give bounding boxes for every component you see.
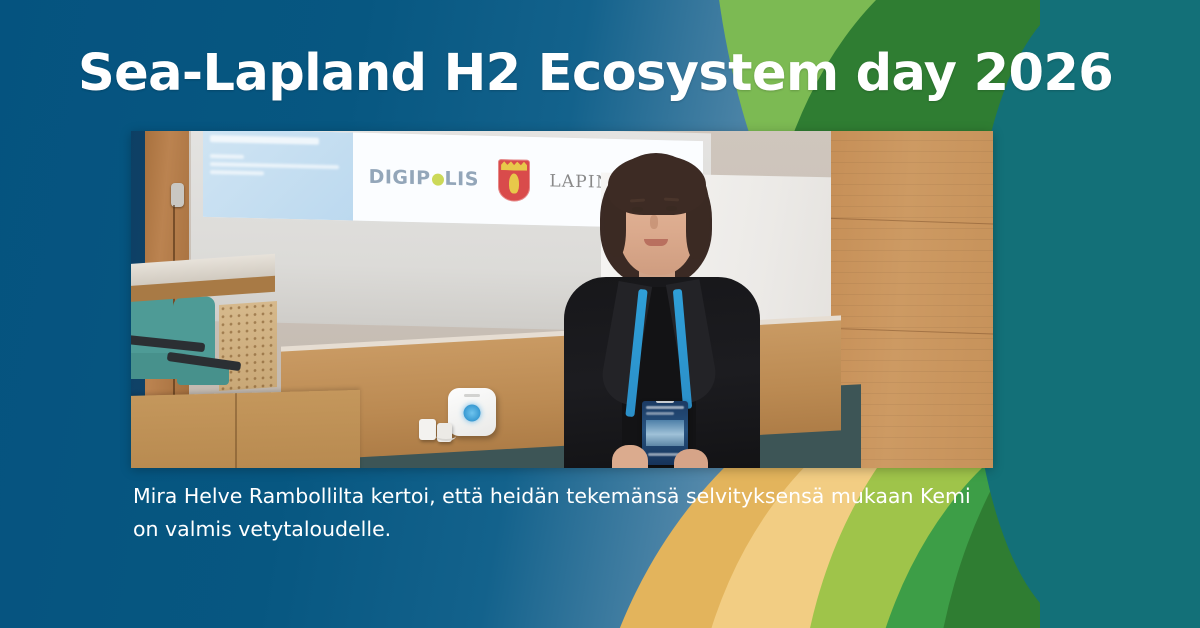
speaker-mouth — [644, 239, 668, 246]
lapland-coat-of-arms-icon — [498, 159, 530, 202]
device-cable — [436, 431, 456, 441]
photo-caption: Mira Helve Rambollilta kertoi, että heid… — [133, 480, 993, 546]
slide-title-line — [210, 135, 319, 145]
slide-subtitle-line-1 — [210, 154, 244, 159]
speaker-hand-right — [674, 449, 708, 468]
power-adapter-1 — [419, 419, 436, 440]
speaker-nose — [650, 215, 658, 229]
digipolis-logo-text-start: DIGIP — [369, 166, 431, 190]
speaker-hair-front — [608, 155, 706, 215]
page-title: Sea-Lapland H2 Ecosystem day 2026 — [78, 46, 1158, 101]
digipolis-logo: DIGIPLIS — [369, 166, 479, 191]
digipolis-logo-dot — [432, 173, 444, 185]
badge-image — [646, 420, 684, 446]
slide-subtitle-line-2 — [210, 162, 339, 169]
wall-access-point-icon — [448, 388, 496, 436]
crest-crown-icon — [501, 161, 527, 171]
device-indicator-light — [464, 404, 481, 421]
crest-figure-icon — [509, 173, 519, 193]
event-banner: Sea-Lapland H2 Ecosystem day 2026 DIGIPL… — [0, 0, 1200, 628]
digipolis-logo-text-end: LIS — [445, 168, 479, 191]
lectern — [131, 390, 360, 468]
slide-subtitle-line-3 — [210, 170, 264, 175]
speaker-portrait — [546, 149, 776, 468]
speaker-eye-left — [632, 207, 643, 212]
speaker-eye-right — [666, 206, 677, 211]
event-photo: DIGIPLIS LAPIN LIITTO — [131, 131, 993, 468]
speaker-hand-left — [612, 445, 648, 468]
badge-header-line-1 — [646, 406, 684, 409]
slide-title-panel — [203, 131, 353, 221]
device-slot — [464, 394, 480, 397]
badge-clip-icon — [656, 401, 674, 403]
door-handle-icon — [171, 183, 184, 207]
badge-header-line-2 — [646, 412, 674, 415]
